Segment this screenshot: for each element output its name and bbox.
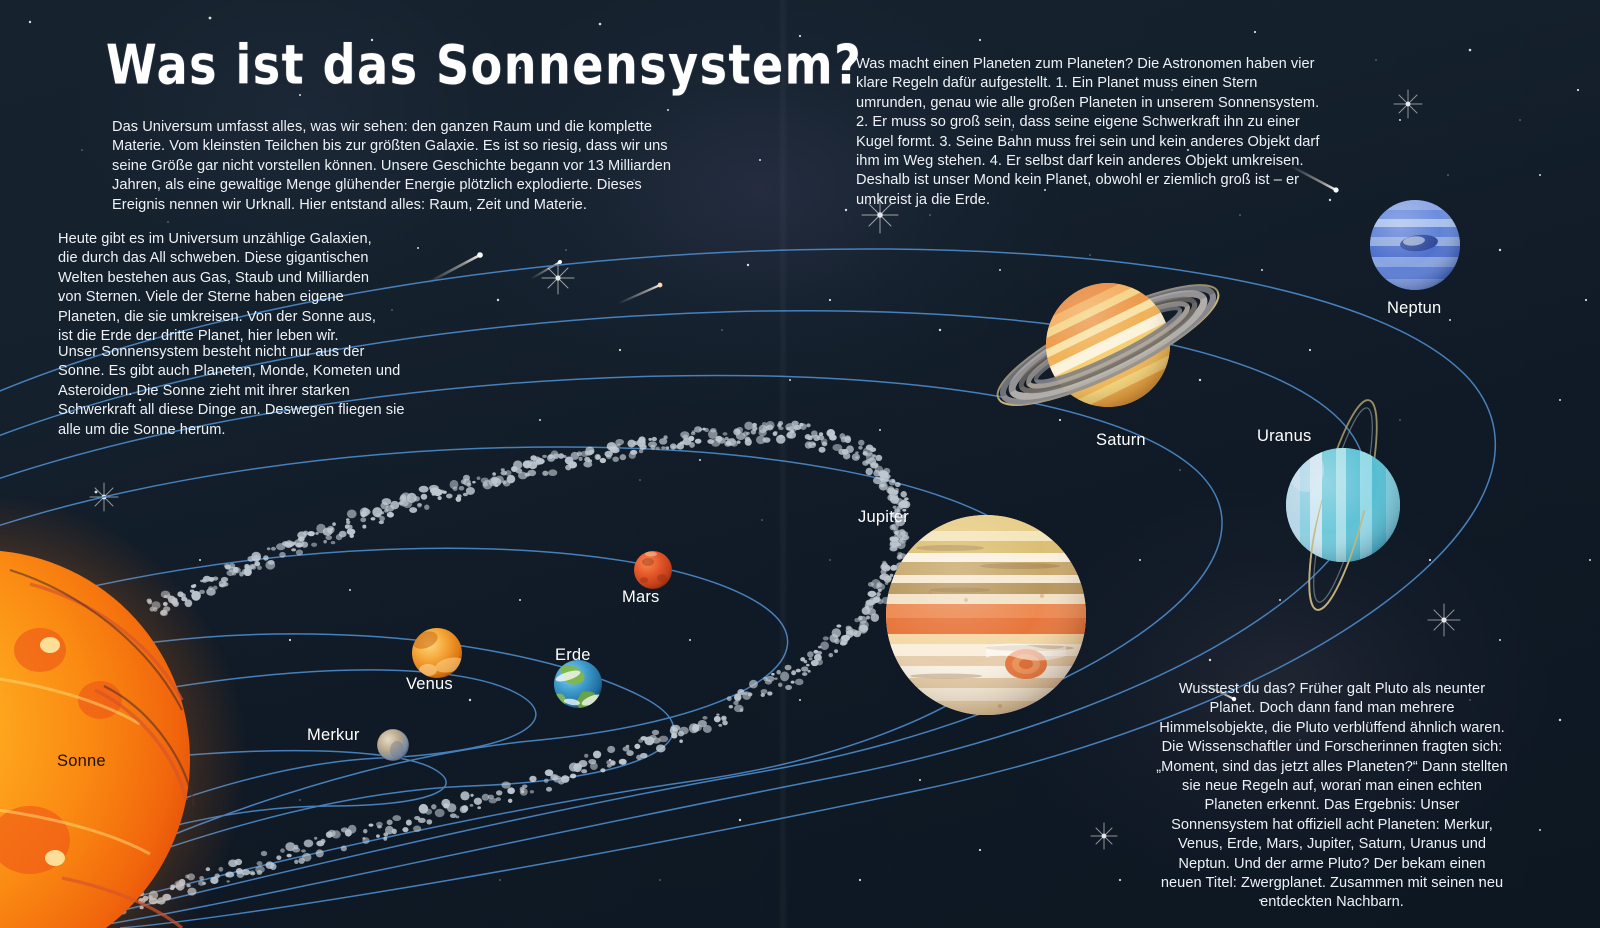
paragraph-planet-rules: Was macht einen Planeten zum Planeten? D…	[856, 55, 1326, 210]
planet-erde	[551, 660, 604, 710]
planet-label-jupiter: Jupiter	[858, 508, 909, 527]
planet-label-sonne: Sonne	[57, 752, 106, 771]
planet-label-erde: Erde	[555, 646, 591, 665]
paragraph-pluto: Wusstest du das? Früher galt Pluto als n…	[1156, 680, 1508, 913]
planet-venus	[410, 628, 466, 678]
paragraph-galaxies: Heute gibt es im Universum unzählige Gal…	[58, 230, 388, 346]
planet-label-merkur: Merkur	[307, 726, 360, 745]
planet-label-saturn: Saturn	[1096, 431, 1146, 450]
comets	[426, 163, 1340, 702]
planet-label-mars: Mars	[622, 588, 659, 607]
sun-body	[0, 492, 248, 928]
paragraph-intro: Das Universum umfasst alles, was wir seh…	[112, 118, 672, 215]
planet-merkur	[377, 729, 409, 761]
planet-label-neptun: Neptun	[1387, 299, 1441, 318]
planet-saturn	[985, 262, 1231, 428]
solar-system-spread: Was ist das Sonnensystem? Das Universum …	[0, 0, 1600, 928]
planet-neptun	[1370, 200, 1460, 291]
planet-label-uranus: Uranus	[1257, 427, 1311, 446]
page-title: Was ist das Sonnensystem?	[106, 34, 862, 95]
planet-mars	[634, 551, 672, 589]
planet-label-venus: Venus	[406, 675, 453, 694]
paragraph-solar-system: Unser Sonnensystem besteht nicht nur aus…	[58, 343, 408, 440]
planet-jupiter	[886, 515, 1086, 715]
